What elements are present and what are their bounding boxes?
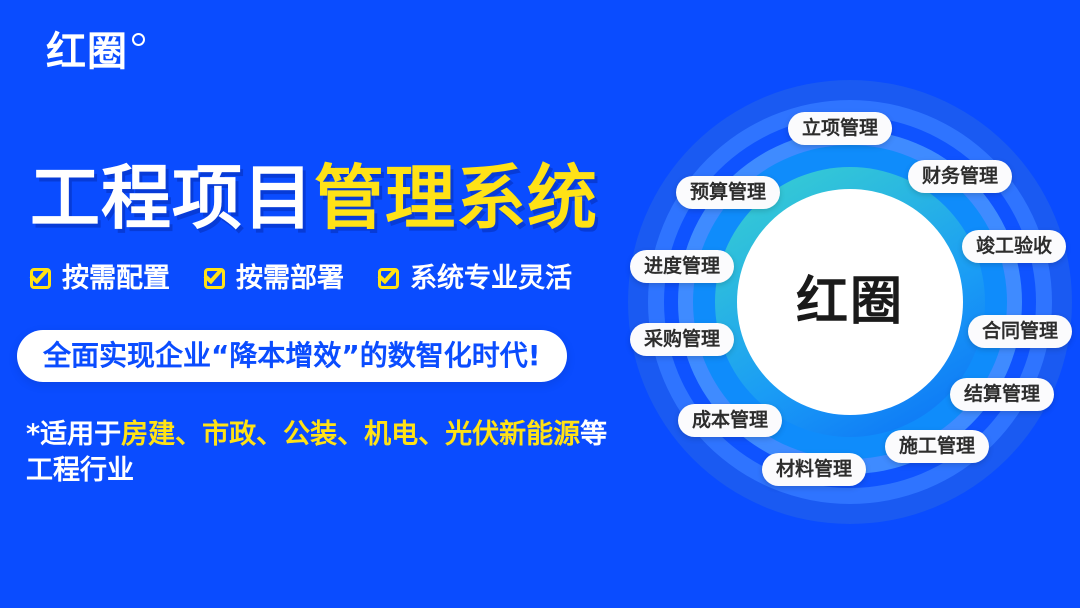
tagline-text: 全面实现企业“降本增效”的数智化时代! (43, 342, 541, 370)
wheel-node[interactable]: 立项管理 (788, 112, 892, 145)
feature-item-2: 系统专业灵活 (378, 265, 572, 292)
wheel-node[interactable]: 施工管理 (885, 430, 989, 463)
wheel-node-label: 施工管理 (899, 437, 975, 456)
wheel-node-label: 进度管理 (644, 257, 720, 276)
page-title: 工程项目管理系统 (30, 163, 598, 233)
wheel-node[interactable]: 预算管理 (676, 176, 780, 209)
wheel-node-label: 预算管理 (690, 183, 766, 202)
feature-item-0: 按需配置 (30, 265, 170, 292)
wheel-node-label: 立项管理 (802, 119, 878, 138)
footnote: *适用于房建、市政、公装、机电、光伏新能源等工程行业 (26, 417, 626, 490)
degree-circle-icon (132, 33, 145, 46)
tagline-banner: 全面实现企业“降本增效”的数智化时代! (17, 330, 567, 382)
wheel-node-label: 成本管理 (692, 411, 768, 430)
wheel-center-label: 红圈 (796, 276, 904, 328)
checkbox-checked-icon (204, 266, 229, 291)
wheel-node[interactable]: 结算管理 (950, 378, 1054, 411)
brand-logo-text: 红圈 (46, 32, 128, 72)
brand-logo: 红圈 (46, 32, 145, 72)
wheel-node[interactable]: 进度管理 (630, 250, 734, 283)
wheel-node[interactable]: 竣工验收 (962, 230, 1066, 263)
wheel-node-label: 结算管理 (964, 385, 1040, 404)
wheel-node[interactable]: 财务管理 (908, 160, 1012, 193)
feature-list: 按需配置 按需部署 系统专业灵活 (30, 265, 572, 292)
page-title-primary: 工程项目 (30, 157, 314, 239)
wheel-node-label: 财务管理 (922, 167, 998, 186)
feature-label: 系统专业灵活 (410, 265, 572, 292)
footnote-prefix: *适用于 (26, 419, 121, 450)
footnote-industries: 房建、市政、公装、机电、光伏新能源 (121, 419, 580, 450)
feature-label: 按需部署 (236, 265, 344, 292)
feature-item-1: 按需部署 (204, 265, 344, 292)
promo-poster: 红圈 工程项目管理系统 按需配置 按需部署 系统专业灵活 全面实现企业“降本增效… (0, 0, 1080, 608)
wheel-node[interactable]: 材料管理 (762, 453, 866, 486)
checkbox-checked-icon (30, 266, 55, 291)
feature-label: 按需配置 (62, 265, 170, 292)
wheel-node[interactable]: 采购管理 (630, 323, 734, 356)
page-title-accent: 管理系统 (314, 157, 598, 239)
wheel-node[interactable]: 成本管理 (678, 404, 782, 437)
wheel-node[interactable]: 合同管理 (968, 315, 1072, 348)
wheel-node-label: 采购管理 (644, 330, 720, 349)
checkbox-checked-icon (378, 266, 403, 291)
wheel-node-label: 材料管理 (776, 460, 852, 479)
wheel-node-label: 竣工验收 (976, 237, 1052, 256)
wheel-node-label: 合同管理 (982, 322, 1058, 341)
wheel-center: 红圈 (737, 189, 963, 415)
capability-wheel-diagram: 红圈 立项管理财务管理竣工验收合同管理结算管理施工管理材料管理成本管理采购管理进… (620, 72, 1080, 532)
